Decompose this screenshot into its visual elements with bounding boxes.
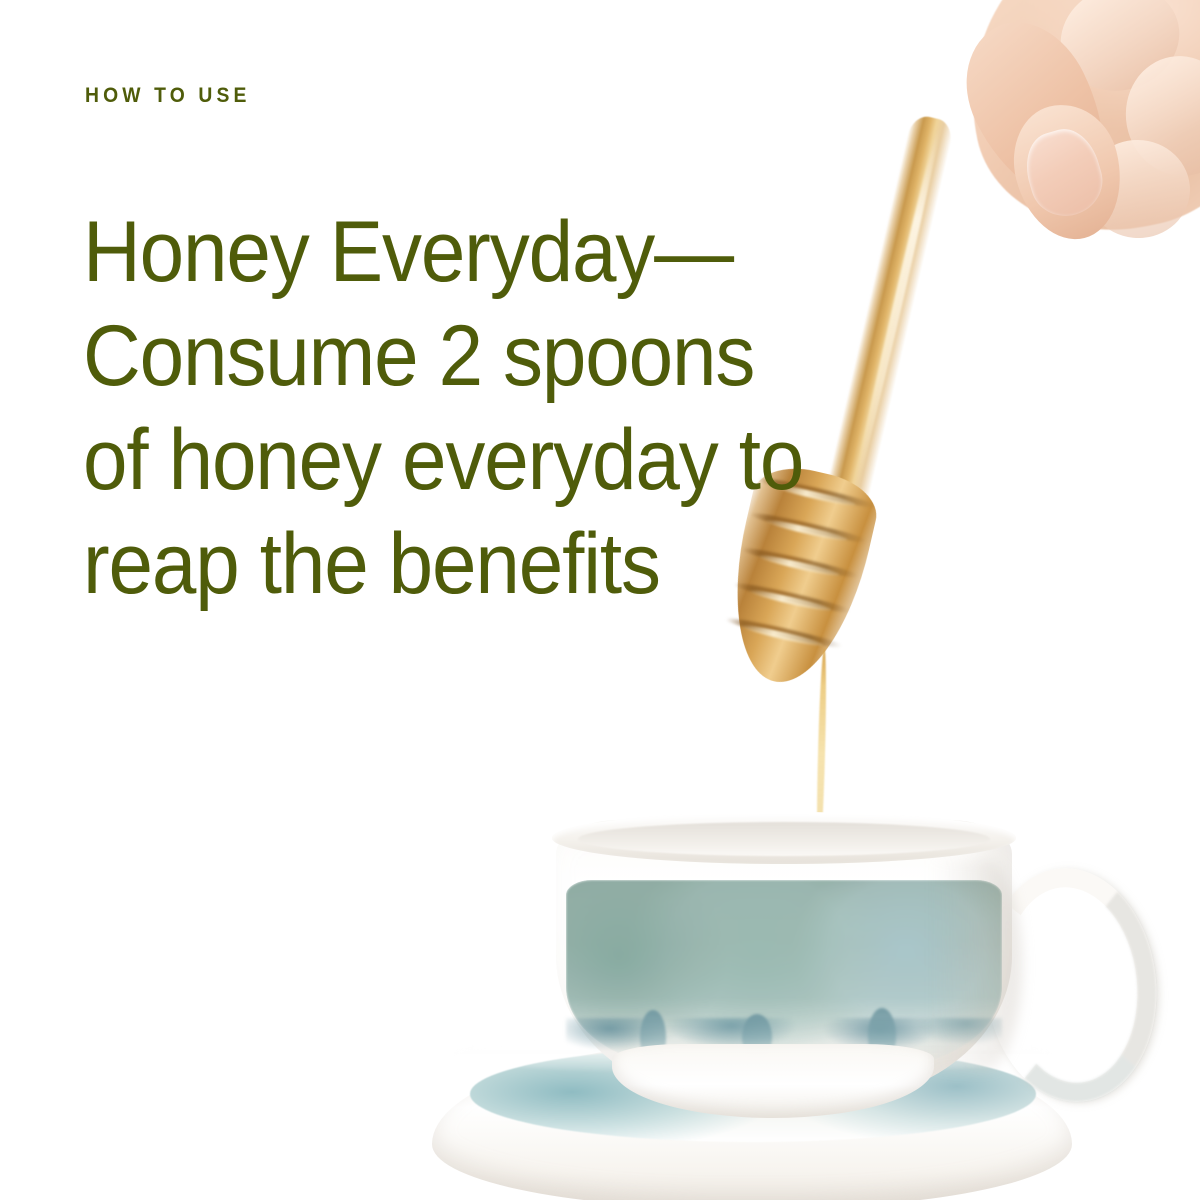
promo-card: HOW TO USE Honey Everyday— Consume 2 spo… <box>0 0 1200 1200</box>
honey-pool <box>788 846 920 860</box>
index-finger <box>943 2 1131 223</box>
headline-line: Consume 2 spoons <box>83 304 753 408</box>
cup-interior <box>578 822 990 856</box>
knuckle <box>1116 47 1200 184</box>
dipper-ridge <box>747 509 872 546</box>
honey-drizzle <box>815 648 828 860</box>
dipper-ridge <box>723 614 848 651</box>
glaze-drip <box>640 1010 666 1064</box>
knuckle <box>1081 135 1195 243</box>
cup-handle-shadow <box>974 860 1168 1110</box>
cup-glaze-drips <box>566 1018 1002 1062</box>
glaze-drip <box>868 1008 896 1064</box>
dipper-ridge-highlight <box>747 587 832 613</box>
thumbnail <box>1018 122 1111 225</box>
teacup-body <box>556 820 1012 1102</box>
dipper-ridge <box>739 544 864 581</box>
glaze-drip <box>742 1014 772 1060</box>
hand <box>940 0 1200 257</box>
headline-line: Honey Everyday— <box>83 200 753 304</box>
page-title: Honey Everyday— Consume 2 spoons of hone… <box>83 200 753 616</box>
eyebrow-label: HOW TO USE <box>85 84 251 108</box>
dipper-handle <box>823 113 956 513</box>
saucer-rim-highlight <box>450 1034 1054 1074</box>
cup-glaze-band <box>566 880 1002 1070</box>
thumb <box>1001 93 1135 250</box>
dipper-handle-highlight <box>851 127 943 490</box>
saucer-glaze <box>470 1046 1036 1142</box>
cup-shadow <box>930 860 1022 1070</box>
dipper-ridge-highlight <box>764 517 849 543</box>
cup-handle <box>974 860 1168 1110</box>
saucer <box>432 1040 1072 1200</box>
headline-line: of honey everyday to <box>83 408 753 512</box>
cup-rim <box>552 812 1016 864</box>
cup-foot <box>612 1044 934 1118</box>
headline-line: reap the benefits <box>83 512 753 616</box>
dipper-ridge-highlight <box>739 622 824 648</box>
dipper-ridge-highlight <box>756 552 841 578</box>
knuckle <box>1047 0 1193 106</box>
